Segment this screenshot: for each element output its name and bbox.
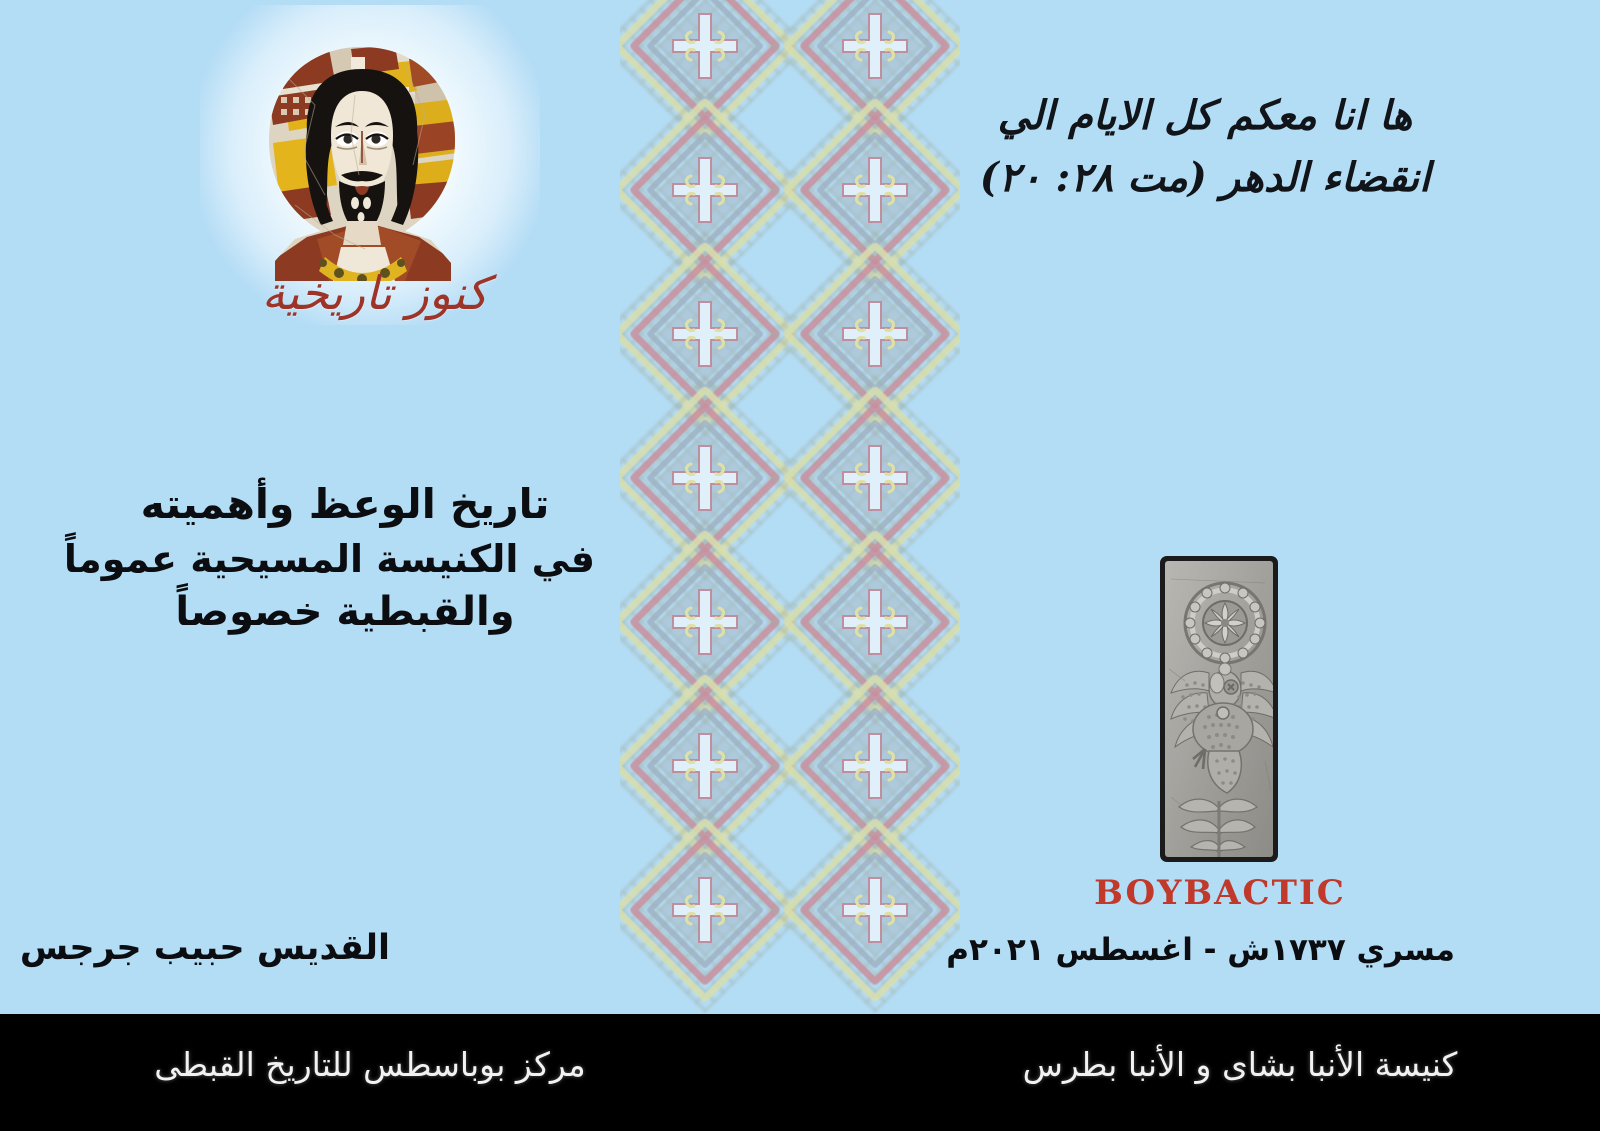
bible-verse: ها انا معكم كل الايام الي انقضاء الدهر (… (965, 85, 1445, 209)
footer-center-text: مركز بوباسطس للتاريخ القبطى (100, 1045, 640, 1084)
issue-date: مسري ١٧٣٧ش - اغسطس ٢٠٢١م (985, 932, 1455, 968)
coptic-cross-medallion-icon (782, 817, 960, 1004)
coptic-cross-medallion-icon (620, 529, 798, 716)
series-label: كنوز تاريخية (230, 270, 520, 316)
coptic-stone-relief-frame (1160, 556, 1278, 862)
saint-name: القديس حبيب جرجس (20, 928, 390, 968)
cross-column-left (620, 0, 790, 1014)
footer-right-text: كنيسة الأنبا بشاى و الأنبا بطرس (930, 1045, 1550, 1084)
coptic-cross-medallion-icon (782, 385, 960, 572)
coptic-cross-medallion-icon (782, 241, 960, 428)
poster-canvas: كنوز تاريخية ها انا معكم كل الايام الي ا… (0, 0, 1600, 1131)
coptic-cross-medallion-icon (620, 673, 798, 860)
coptic-cross-medallion-icon (782, 673, 960, 860)
bubastis-wordmark: BOYBACTIC (1055, 873, 1385, 913)
title-line-1: تاريخ الوعظ وأهميته (95, 476, 595, 533)
verse-line-2: انقضاء الدهر (مت ٢٨: ٢٠) (965, 147, 1445, 209)
verse-line-1: ها انا معكم كل الايام الي (965, 85, 1445, 147)
coptic-cross-medallion-icon (620, 97, 798, 284)
cross-column-right (790, 0, 960, 1014)
title-line-2: في الكنيسة المسيحية عموماً (95, 533, 595, 585)
coptic-cross-medallion-icon (620, 0, 798, 139)
footer-bar: مركز بوباسطس للتاريخ القبطى كنيسة الأنبا… (0, 1014, 1600, 1131)
coptic-cross-pattern-band (620, 0, 960, 1014)
coptic-stone-relief-eagle-icon (1165, 561, 1273, 857)
coptic-cross-medallion-icon (782, 0, 960, 139)
page-title: تاريخ الوعظ وأهميته في الكنيسة المسيحية … (95, 476, 595, 640)
coptic-cross-medallion-icon (620, 241, 798, 428)
coptic-cross-medallion-icon (782, 529, 960, 716)
christ-pantocrator-icon (255, 35, 470, 285)
title-line-3: والقبطية خصوصاً (95, 585, 595, 640)
coptic-cross-medallion-icon (620, 385, 798, 572)
coptic-cross-medallion-icon (782, 97, 960, 284)
coptic-cross-medallion-icon (620, 817, 798, 1004)
